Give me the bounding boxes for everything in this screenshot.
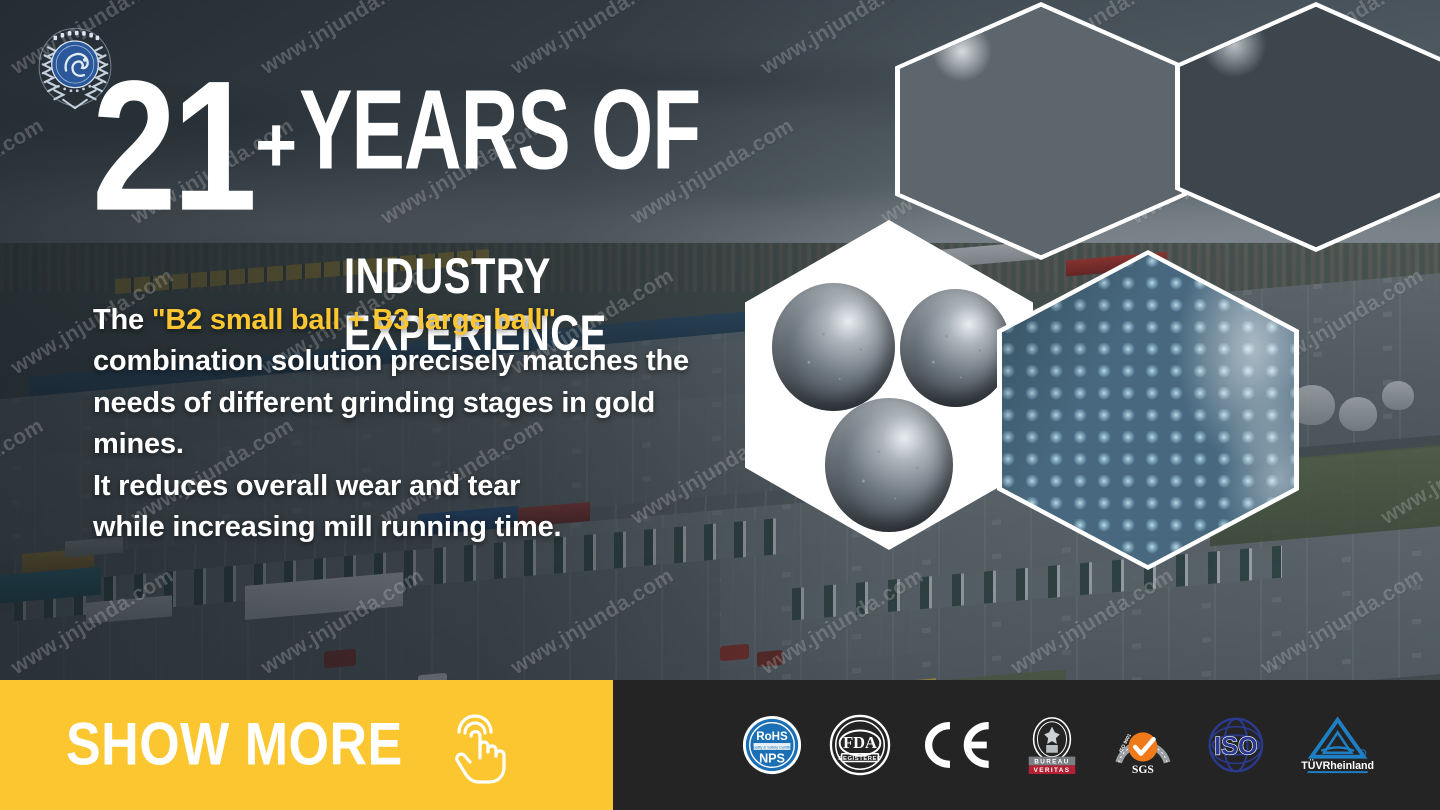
grinding-balls-gray-image [900,7,1182,255]
bureau-veritas-badge: BUREAU VERITAS [1021,714,1083,776]
sgs-badge: SGS ISO 9001 [1109,714,1177,776]
iso-badge: ISO [1202,714,1270,776]
certifications-bar: RoHS Quality & Safety Certified NPS FDA … [613,680,1440,810]
years-of-label: YEARS OF [299,73,700,187]
svg-text:REGISTERED: REGISTERED [838,756,882,762]
svg-text:BUREAU: BUREAU [1034,758,1069,765]
headline-line-1: 21 + YEARS OF [92,98,792,223]
svg-text:NPS: NPS [759,751,785,765]
desc-part-2: combination solution precisely matches t… [93,345,689,460]
hex-large-balls-white[interactable] [745,220,1033,550]
hex-grinding-balls-gray[interactable] [895,2,1187,260]
grinding-balls-dark-image [1180,7,1440,247]
product-hex-gallery [735,0,1440,592]
hex-grinding-balls-dark[interactable] [1175,2,1440,252]
small-blue-balls-image [1002,255,1294,565]
ce-mark-badge [917,714,995,776]
promo-banner: www.jnjunda.comwww.jnjunda.comwww.jnjund… [0,0,1440,810]
svg-text:TÜVRheinland: TÜVRheinland [1301,759,1374,772]
large-ball-3 [825,398,953,532]
desc-part-4: while increasing mill running time. [93,507,733,548]
tap-hand-icon [441,706,513,784]
desc-highlight: "B2 small ball + B3 large ball" [152,304,556,336]
show-more-button[interactable]: SHOW MORE [0,680,613,810]
svg-text:RoHS: RoHS [756,730,788,743]
hex-small-balls-blue[interactable] [997,250,1299,570]
svg-text:Quality & Safety Certified: Quality & Safety Certified [750,744,793,749]
desc-part-3: It reduces overall wear and tear [93,466,733,507]
rohs-nps-badge: RoHS Quality & Safety Certified NPS [741,714,803,776]
desc-part-1: The [93,304,152,336]
fda-registered-badge: FDA REGISTERED [829,714,891,776]
svg-text:VERITAS: VERITAS [1033,767,1070,774]
large-balls-image [750,225,1028,545]
svg-text:FDA: FDA [843,733,877,752]
years-number: 21 [92,71,253,223]
large-ball-1 [772,283,894,411]
large-ball-2 [900,289,1011,407]
show-more-label: SHOW MORE [66,715,403,775]
plus-sign: + [255,105,297,184]
svg-text:SGS: SGS [1131,763,1153,776]
tuv-rheinland-badge: R TÜVRheinland [1296,714,1379,776]
description-paragraph: The "B2 small ball + B3 large ball" comb… [93,300,733,549]
svg-text:ISO: ISO [1215,733,1258,761]
svg-text:R: R [1362,751,1365,756]
